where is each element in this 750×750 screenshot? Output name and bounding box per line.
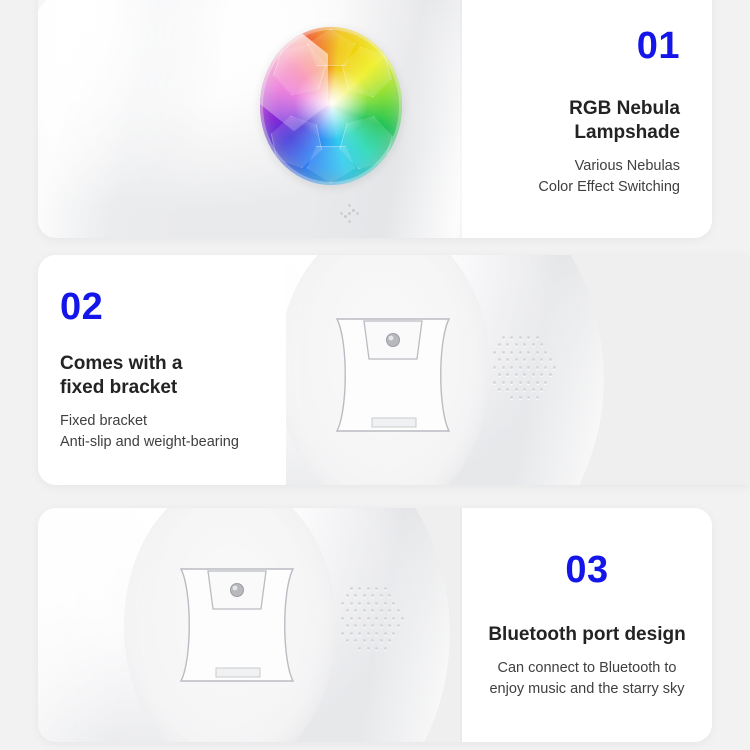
feature-description-03: Can connect to Bluetooth to enjoy music … <box>489 658 684 699</box>
product-photo-back-bracket <box>286 255 750 485</box>
feature-heading-02: Comes with a fixed bracket <box>60 352 182 401</box>
feature-description-02: Fixed bracket Anti-slip and weight-beari… <box>60 411 239 452</box>
product-photo-front <box>38 0 462 238</box>
feature-text-03: 03 Bluetooth port design Can connect to … <box>462 508 712 742</box>
feature-card-01: 01 RGB Nebula Lampshade Various Nebulas … <box>38 0 712 238</box>
fixed-bracket-icon <box>178 564 296 686</box>
feature-number-01: 01 <box>637 27 680 65</box>
fixed-bracket-icon <box>334 315 452 435</box>
feature-number-03: 03 <box>565 551 608 589</box>
feature-text-02: 02 Comes with a fixed bracket Fixed brac… <box>38 255 286 485</box>
panel-seam <box>460 0 462 238</box>
feature-heading-01: RGB Nebula Lampshade <box>569 97 680 146</box>
speaker-grille-icon <box>486 325 556 405</box>
touch-sensor-icon <box>338 202 362 226</box>
product-photo-back-bluetooth <box>38 508 462 742</box>
dome-rim <box>260 27 402 185</box>
rgb-nebula-dome-icon <box>260 27 402 185</box>
speaker-grille-icon <box>334 576 404 656</box>
feature-card-03: 03 Bluetooth port design Can connect to … <box>38 508 712 742</box>
feature-description-01: Various Nebulas Color Effect Switching <box>538 156 680 197</box>
product-feature-infographic: 01 RGB Nebula Lampshade Various Nebulas … <box>0 0 750 750</box>
feature-card-02: 02 Comes with a fixed bracket Fixed brac… <box>38 255 750 485</box>
feature-number-02: 02 <box>60 288 103 326</box>
feature-text-01: 01 RGB Nebula Lampshade Various Nebulas … <box>500 0 712 238</box>
feature-heading-03: Bluetooth port design <box>488 623 685 647</box>
